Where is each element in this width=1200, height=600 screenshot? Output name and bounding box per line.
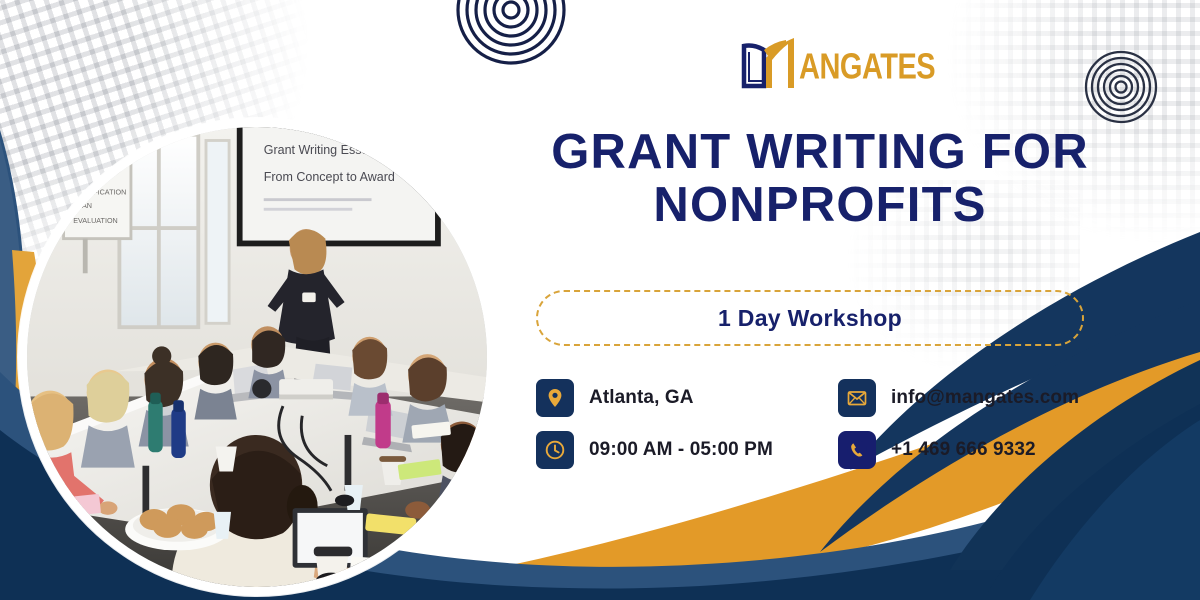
map-pin-icon	[536, 379, 574, 417]
photo-illustration: Grant Writing Essentials: From Concept t…	[27, 127, 487, 587]
event-banner: Grant Writing Essentials: From Concept t…	[0, 0, 1200, 600]
email-text: info@mangates.com	[891, 387, 1079, 409]
brand-wordmark: ANGATES	[799, 47, 935, 88]
projector-slide-line1: Grant Writing Essentials:	[264, 143, 401, 157]
projector-slide-line2: From Concept to Award	[264, 170, 395, 184]
flipchart-item-0: BUDGET	[73, 174, 104, 183]
envelope-icon	[838, 379, 876, 417]
location-text: Atlanta, GA	[589, 387, 694, 409]
duration-badge-label: 1 Day Workshop	[718, 305, 902, 332]
banner-content: ANGATES GRANT WRITING FOR NONPROFITS 1 D…	[520, 0, 1120, 600]
clock-icon	[536, 431, 574, 469]
event-title-line2: NONPROFITS	[653, 178, 986, 232]
detail-phone[interactable]: +1 469 666 9332	[826, 431, 1106, 469]
classroom-workshop-photo: Grant Writing Essentials: From Concept t…	[18, 118, 496, 596]
phone-icon	[838, 431, 876, 469]
phone-text: +1 469 666 9332	[891, 439, 1036, 461]
open-book-icon	[738, 38, 794, 92]
event-details: Atlanta, GA info@mangates.com	[536, 372, 1106, 476]
detail-email[interactable]: info@mangates.com	[826, 379, 1106, 417]
flipchart-title: LOGIC MODEL	[71, 156, 131, 166]
detail-location: Atlanta, GA	[536, 379, 826, 417]
duration-badge: 1 Day Workshop	[536, 290, 1084, 346]
flipchart-item-1: JUSTIFICATION	[73, 187, 126, 196]
page-title: GRANT WRITING FOR NONPROFITS	[520, 126, 1120, 232]
flipchart-item-2: PLAN	[73, 201, 92, 210]
time-text: 09:00 AM - 05:00 PM	[589, 439, 773, 461]
detail-time: 09:00 AM - 05:00 PM	[536, 431, 826, 469]
brand-logo[interactable]: ANGATES	[738, 38, 935, 92]
event-title-line1: GRANT WRITING FOR	[551, 125, 1089, 179]
flipchart-item-3: EVALUATION	[73, 216, 118, 225]
